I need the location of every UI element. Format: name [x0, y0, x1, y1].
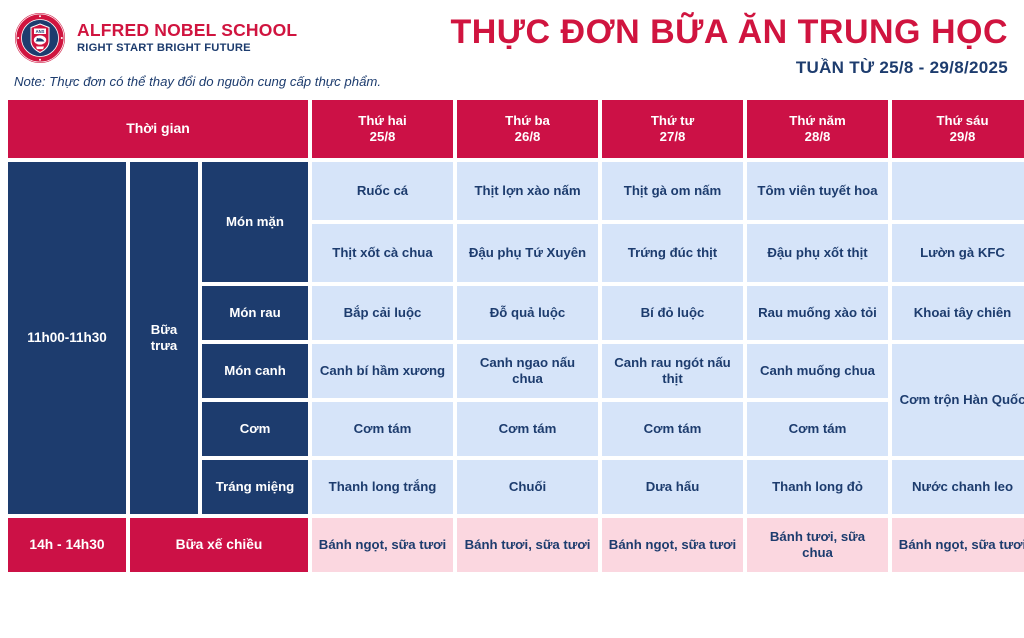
column-header-monday: Thứ hai 25/8 [312, 100, 453, 158]
dish-cell-merged-friday: Cơm trộn Hàn Quốc [892, 344, 1024, 456]
svg-text:ANS: ANS [36, 29, 45, 34]
day-date: 27/8 [660, 129, 686, 144]
snack-cell: Bánh ngọt, sữa tươi [602, 518, 743, 572]
menu-table: Thời gian Thứ hai 25/8 Thứ ba 26/8 Thứ t… [8, 100, 1016, 572]
dish-cell: Bí đỏ luộc [602, 286, 743, 340]
snack-time-label: 14h - 14h30 [8, 518, 126, 572]
dish-cell: Khoai tây chiên [892, 286, 1024, 340]
category-label-main-dish: Món mặn [202, 162, 308, 282]
dish-cell: Thanh long đỏ [747, 460, 888, 514]
lunch-time-label: 11h00-11h30 [8, 162, 126, 514]
school-tagline: RIGHT START BRIGHT FUTURE [77, 43, 297, 54]
page-header: ANS ALFRED NOBEL SCHOOL RIGHT START BRIG… [0, 0, 1024, 98]
snack-cell: Bánh ngọt, sữa tươi [312, 518, 453, 572]
day-name: Thứ hai [358, 113, 406, 128]
day-name: Thứ sáu [936, 113, 988, 128]
category-label-dessert: Tráng miệng [202, 460, 308, 514]
dish-cell: Canh ngao nấu chua [457, 344, 598, 398]
dish-cell: Đỗ quả luộc [457, 286, 598, 340]
dish-cell: Canh muống chua [747, 344, 888, 398]
snack-cell: Bánh tươi, sữa tươi [457, 518, 598, 572]
dish-cell: Rau muống xào tỏi [747, 286, 888, 340]
column-header-wednesday: Thứ tư 27/8 [602, 100, 743, 158]
column-header-tuesday: Thứ ba 26/8 [457, 100, 598, 158]
school-crest-icon: ANS [14, 12, 66, 64]
lunch-meal-label: Bữa trưa [130, 162, 198, 514]
day-date: 26/8 [515, 129, 541, 144]
dish-cell-empty [892, 162, 1024, 220]
school-name: ALFRED NOBEL SCHOOL [77, 22, 297, 40]
snack-cell: Bánh ngọt, sữa tươi [892, 518, 1024, 572]
title-block: THỰC ĐƠN BỮA ĂN TRUNG HỌC TUẦN TỪ 25/8 -… [450, 14, 1008, 78]
category-label-soup: Món canh [202, 344, 308, 398]
snack-meal-label: Bữa xế chiều [130, 518, 308, 572]
category-label-vegetable: Món rau [202, 286, 308, 340]
dish-cell: Dưa hấu [602, 460, 743, 514]
day-date: 28/8 [805, 129, 831, 144]
dish-cell: Canh rau ngót nấu thịt [602, 344, 743, 398]
snack-cell: Bánh tươi, sữa chua [747, 518, 888, 572]
page-subtitle: TUẦN TỪ 25/8 - 29/8/2025 [450, 58, 1008, 78]
dish-cell: Cơm tám [747, 402, 888, 456]
dish-cell: Đậu phụ Tứ Xuyên [457, 224, 598, 282]
day-name: Thứ tư [651, 113, 694, 128]
dish-cell: Cơm tám [602, 402, 743, 456]
dish-cell: Trứng đúc thịt [602, 224, 743, 282]
dish-cell: Thịt xốt cà chua [312, 224, 453, 282]
column-header-friday: Thứ sáu 29/8 [892, 100, 1024, 158]
day-date: 29/8 [950, 129, 976, 144]
dish-cell: Đậu phụ xốt thịt [747, 224, 888, 282]
day-name: Thứ năm [789, 113, 845, 128]
dish-cell: Cơm tám [312, 402, 453, 456]
column-header-time: Thời gian [8, 100, 308, 158]
category-label-rice: Cơm [202, 402, 308, 456]
day-name: Thứ ba [505, 113, 550, 128]
dish-cell: Canh bí hầm xương [312, 344, 453, 398]
column-header-thursday: Thứ năm 28/8 [747, 100, 888, 158]
dish-cell: Ruốc cá [312, 162, 453, 220]
dish-cell: Chuối [457, 460, 598, 514]
page-title: THỰC ĐƠN BỮA ĂN TRUNG HỌC [450, 14, 1008, 50]
menu-page: ANS ALFRED NOBEL SCHOOL RIGHT START BRIG… [0, 0, 1024, 638]
dish-cell: Tôm viên tuyết hoa [747, 162, 888, 220]
dish-cell: Nước chanh leo [892, 460, 1024, 514]
dish-cell: Bắp cải luộc [312, 286, 453, 340]
dish-cell: Thịt gà om nấm [602, 162, 743, 220]
school-branding: ANS ALFRED NOBEL SCHOOL RIGHT START BRIG… [14, 12, 297, 64]
dish-cell: Lườn gà KFC [892, 224, 1024, 282]
brand-text-block: ALFRED NOBEL SCHOOL RIGHT START BRIGHT F… [77, 22, 297, 55]
dish-cell: Thịt lợn xào nấm [457, 162, 598, 220]
menu-note: Note: Thực đơn có thể thay đổi do nguồn … [14, 74, 381, 89]
day-date: 25/8 [370, 129, 396, 144]
dish-cell: Cơm tám [457, 402, 598, 456]
dish-cell: Thanh long trắng [312, 460, 453, 514]
